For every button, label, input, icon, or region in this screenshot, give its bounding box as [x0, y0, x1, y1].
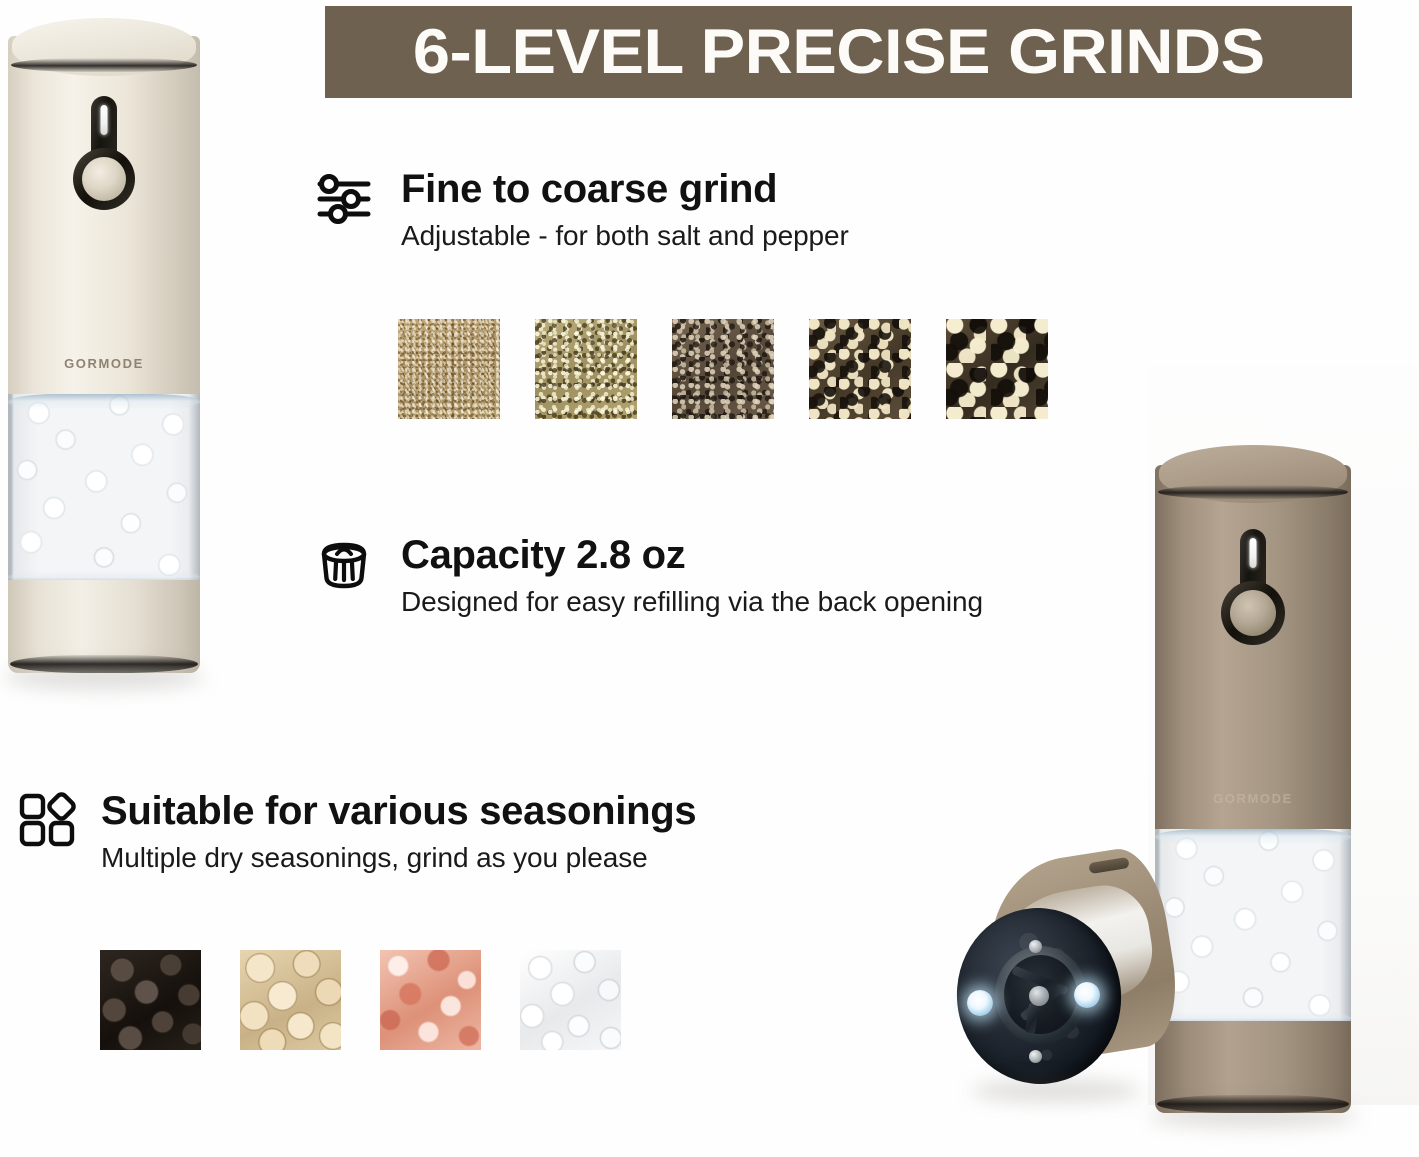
grind-level-4-coarse — [809, 319, 911, 419]
cap-dot-4 — [1041, 1049, 1053, 1061]
taupe-grinder-shadow — [1149, 1104, 1357, 1128]
taupe-grinder-chamber — [1155, 829, 1351, 1025]
white-peppercorns — [240, 950, 341, 1050]
product-feature-poster: 6-LEVEL PRECISE GRINDS Fine to coarse gr… — [0, 0, 1419, 1157]
cream-button-face[interactable] — [82, 157, 126, 201]
taupe-grinder-chamber-glass — [1155, 829, 1351, 1025]
lying-grinder-screw-top — [1029, 940, 1042, 953]
taupe-grinder-lid-seam — [1158, 485, 1348, 499]
cream-grinder-lower-collar — [8, 580, 200, 673]
lying-grinder-center-screw — [1029, 986, 1049, 1006]
feature-block-seasonings: Suitable for various seasonings Multiple… — [18, 790, 838, 910]
taupe-button-led-indicator — [1250, 538, 1257, 568]
cream-grinder-chamber — [8, 394, 200, 584]
shapes-grid-icon — [18, 790, 78, 850]
taupe-button-bezel — [1221, 581, 1285, 645]
sliders-icon — [313, 168, 375, 230]
pink-himalayan-salt — [380, 950, 481, 1050]
feature-capacity-subtitle: Designed for easy refilling via the back… — [401, 587, 983, 618]
cream-button-led-indicator — [101, 105, 108, 135]
seasoning-swatch-row — [100, 950, 621, 1050]
feature-block-capacity: Capacity 2.8 oz Designed for easy refill… — [313, 534, 1113, 654]
feature-seasonings-title: Suitable for various seasonings — [101, 790, 696, 833]
grind-level-1-extra-fine — [398, 319, 500, 419]
taupe-button-face[interactable] — [1230, 590, 1276, 636]
cream-grinder-upper-body — [8, 36, 200, 402]
feature-grind-title: Fine to coarse grind — [401, 168, 849, 211]
lying-grinder-screw-bottom — [1029, 1050, 1042, 1063]
cream-grinder-power-button[interactable] — [58, 96, 150, 218]
taupe-electric-grinder: GORMODE — [1155, 445, 1351, 1113]
feature-block-grind: Fine to coarse grind Adjustable - for bo… — [313, 168, 1013, 288]
feature-seasonings-subtitle: Multiple dry seasonings, grind as you pl… — [101, 843, 696, 874]
grind-level-3-medium — [672, 319, 774, 419]
lying-grinder-led-left — [967, 990, 993, 1016]
grind-level-2-fine — [535, 319, 637, 419]
feature-grind-texts: Fine to coarse grind Adjustable - for bo… — [401, 168, 849, 252]
cream-grinder-chamber-top-rim — [8, 394, 200, 410]
grind-level-swatch-row — [398, 319, 1048, 419]
lying-grinder-led-right — [1074, 982, 1100, 1008]
taupe-grinder-lower-collar — [1155, 1021, 1351, 1113]
lying-grinder-shadow — [971, 1080, 1141, 1102]
cream-button-bezel — [73, 148, 135, 210]
capacity-bucket-icon — [313, 534, 375, 596]
cream-grinder-lid-seam — [11, 58, 197, 72]
cream-grinder-chamber-glass — [8, 394, 200, 584]
feature-capacity-texts: Capacity 2.8 oz Designed for easy refill… — [401, 534, 983, 618]
feature-capacity-title: Capacity 2.8 oz — [401, 534, 983, 577]
taupe-grinder-brand: GORMODE — [1155, 791, 1351, 806]
taupe-grinder-power-button[interactable] — [1207, 529, 1299, 653]
cream-grinder-brand: GORMODE — [8, 356, 200, 371]
cream-electric-grinder: GORMODE — [8, 18, 200, 673]
black-peppercorns — [100, 950, 201, 1050]
lying-grinder-led-base — [957, 848, 1175, 1106]
feature-grind-subtitle: Adjustable - for both salt and pepper — [401, 221, 849, 252]
banner-title: 6-LEVEL PRECISE GRINDS — [413, 21, 1265, 84]
feature-seasonings-texts: Suitable for various seasonings Multiple… — [101, 790, 696, 874]
header-banner: 6-LEVEL PRECISE GRINDS — [325, 6, 1352, 98]
coarse-sea-salt — [520, 950, 621, 1050]
taupe-grinder-chamber-top-rim — [1155, 829, 1351, 845]
cream-grinder-shadow — [4, 664, 204, 690]
grind-level-5-extra-coarse — [946, 319, 1048, 419]
